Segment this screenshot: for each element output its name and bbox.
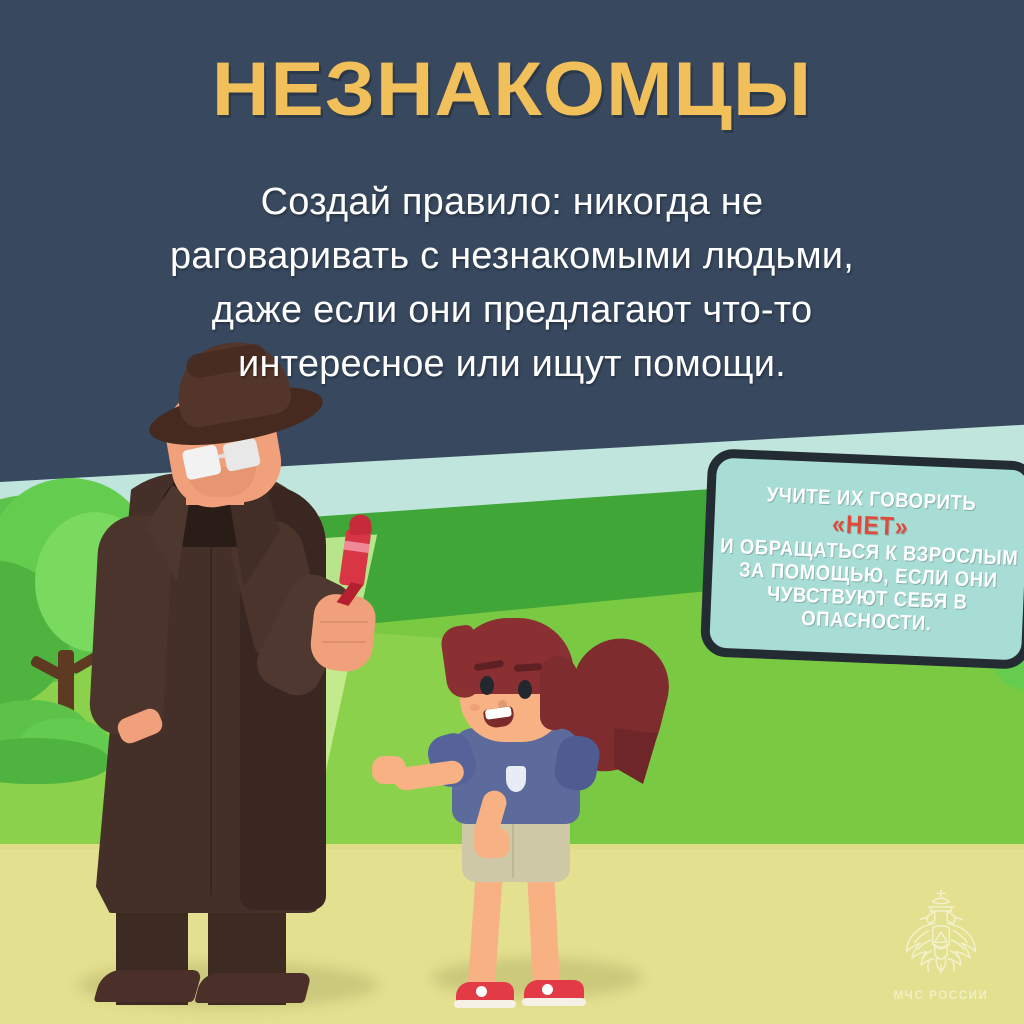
- double-headed-eagle-emblem: [889, 884, 993, 988]
- emercom-logo: МЧС РОССИИ: [882, 884, 1000, 1002]
- bubble-line-5: ОПАСНОСТИ.: [801, 604, 932, 635]
- girl-shirt-emblem: [506, 766, 526, 792]
- subtitle-line-4: интересное или ищут помощи.: [0, 337, 1024, 391]
- man-finger-detail: [320, 621, 368, 623]
- page-title: НЕЗНАКОМЦЫ: [0, 52, 1024, 128]
- poster-canvas: НЕЗНАКОМЦЫ Создай правило: никогда не ра…: [0, 0, 1024, 1024]
- subtitle-line-1: Создай правило: никогда не: [0, 175, 1024, 229]
- man-shoe-left: [93, 970, 202, 1002]
- girl-ponytail-tip: [614, 728, 658, 784]
- girl-hand-right: [474, 828, 510, 858]
- girl-eye-left: [480, 676, 494, 695]
- man-finger-detail-2: [322, 641, 366, 643]
- speech-bubble: УЧИТЕ ИХ ГОВОРИТЬ «НЕТ» И ОБРАЩАТЬСЯ К В…: [700, 448, 1024, 670]
- girl-shoe-left-sole: [454, 1000, 516, 1008]
- girl-hair-sideburn: [540, 656, 578, 730]
- subtitle-block: Создай правило: никогда не раговаривать …: [0, 175, 1024, 391]
- girl-child-illustration: [400, 600, 680, 1010]
- subtitle-line-2: раговаривать с незнакомыми людьми,: [0, 229, 1024, 283]
- man-shoe-right: [194, 973, 311, 1003]
- girl-eye-right: [518, 680, 532, 699]
- girl-cheek: [470, 704, 480, 711]
- girl-shoe-right-sole: [522, 998, 586, 1006]
- logo-caption: МЧС РОССИИ: [894, 990, 989, 1002]
- stranger-man-illustration: [90, 395, 420, 1005]
- man-coat-seam: [210, 545, 212, 895]
- candy-icon: [326, 506, 381, 619]
- girl-hand-left: [372, 756, 406, 784]
- subtitle-line-3: даже если они предлагают что-то: [0, 283, 1024, 337]
